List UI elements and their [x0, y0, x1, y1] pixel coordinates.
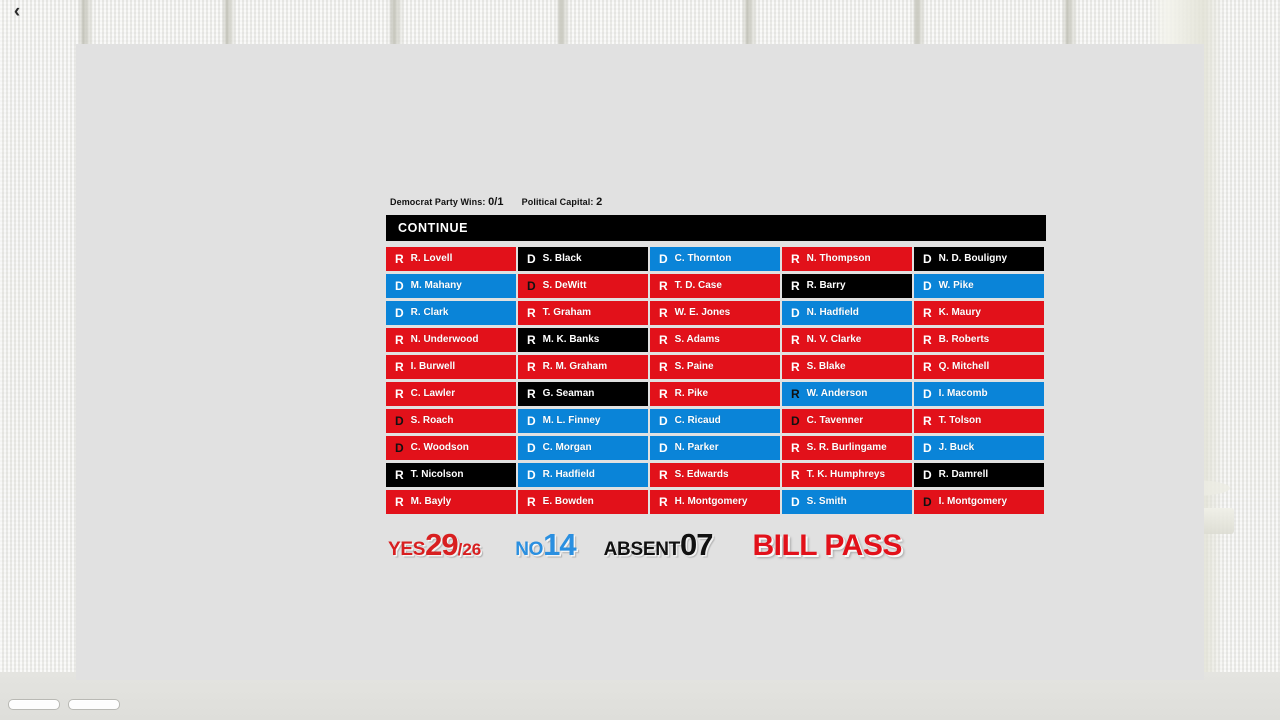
vote-card-name: I. Macomb	[939, 389, 988, 399]
vote-card-party: R	[659, 469, 668, 481]
vote-card[interactable]: RR. Pike	[650, 382, 780, 406]
vote-card-party: R	[527, 334, 536, 346]
vote-card-name: S. Edwards	[675, 470, 729, 480]
party-wins-value: 0/1	[488, 196, 504, 208]
vote-card[interactable]: DR. Hadfield	[518, 463, 648, 487]
yes-needed: /26	[458, 540, 482, 560]
vote-card[interactable]: RT. K. Humphreys	[782, 463, 912, 487]
vote-card[interactable]: RS. Edwards	[650, 463, 780, 487]
vote-card-name: T. K. Humphreys	[807, 470, 885, 480]
vote-card-name: S. Paine	[675, 362, 714, 372]
absent-value: 07	[680, 527, 712, 563]
vote-card[interactable]: RM. Bayly	[386, 490, 516, 514]
vote-card-party: R	[791, 469, 800, 481]
vote-card-name: T. D. Case	[675, 281, 722, 291]
vote-card-name: W. Anderson	[807, 389, 868, 399]
vote-card[interactable]: DR. Damrell	[914, 463, 1044, 487]
continue-button-label: CONTINUE	[398, 221, 468, 235]
vote-card-party: D	[527, 442, 536, 454]
party-wins-stat: Democrat Party Wins: 0/1	[390, 196, 504, 208]
vote-card-party: D	[659, 253, 668, 265]
vote-card-name: N. Underwood	[411, 335, 479, 345]
continue-button[interactable]: CONTINUE	[386, 215, 1046, 241]
vote-card-party: R	[791, 334, 800, 346]
vote-card-party: R	[791, 388, 800, 400]
vote-card-name: M. L. Finney	[543, 416, 601, 426]
vote-card-name: W. Pike	[939, 281, 974, 291]
vote-card-party: R	[527, 307, 536, 319]
bottom-status-bars	[8, 699, 120, 710]
vote-card-name: T. Tolson	[939, 416, 982, 426]
vote-card[interactable]: DC. Tavenner	[782, 409, 912, 433]
vote-card[interactable]: DC. Thornton	[650, 247, 780, 271]
vote-card-name: Q. Mitchell	[939, 362, 990, 372]
vote-card-name: C. Morgan	[543, 443, 592, 453]
vote-card[interactable]: DI. Montgomery	[914, 490, 1044, 514]
main-panel: Democrat Party Wins: 0/1 Political Capit…	[76, 44, 1204, 680]
vote-card[interactable]: DW. Pike	[914, 274, 1044, 298]
vote-card-party: D	[923, 253, 932, 265]
vote-card[interactable]: RR. Lovell	[386, 247, 516, 271]
yes-value: 29	[425, 527, 457, 563]
vote-card[interactable]: RH. Montgomery	[650, 490, 780, 514]
vote-card-party: R	[923, 361, 932, 373]
bill-result-status: BILL PASS	[752, 529, 901, 563]
vote-card-party: R	[527, 361, 536, 373]
vote-card[interactable]: DS. Roach	[386, 409, 516, 433]
vote-card-party: D	[923, 442, 932, 454]
vote-card[interactable]: DM. Mahany	[386, 274, 516, 298]
vote-card-party: R	[923, 334, 932, 346]
vote-card-name: N. V. Clarke	[807, 335, 862, 345]
vote-card-name: C. Tavenner	[807, 416, 864, 426]
vote-card-name: S. Smith	[807, 497, 847, 507]
vote-card-party: R	[659, 388, 668, 400]
vote-card-party: R	[659, 361, 668, 373]
no-tally: NO 14	[515, 527, 575, 563]
vote-card[interactable]: RS. R. Burlingame	[782, 436, 912, 460]
vote-card-party: D	[395, 280, 404, 292]
vote-card-party: R	[659, 496, 668, 508]
vote-card[interactable]: RN. V. Clarke	[782, 328, 912, 352]
vote-card[interactable]: DS. DeWitt	[518, 274, 648, 298]
vote-card-party: D	[527, 280, 536, 292]
political-capital-value: 2	[596, 196, 602, 208]
vote-card[interactable]: DS. Smith	[782, 490, 912, 514]
vote-card-party: R	[527, 496, 536, 508]
vote-card-party: D	[923, 496, 932, 508]
no-value: 14	[543, 527, 575, 563]
political-capital-label: Political Capital:	[522, 197, 594, 207]
vote-card-party: R	[395, 334, 404, 346]
vote-card[interactable]: RB. Roberts	[914, 328, 1044, 352]
vote-card-party: D	[791, 307, 800, 319]
vote-card-name: C. Thornton	[675, 254, 732, 264]
party-wins-label: Democrat Party Wins:	[390, 197, 485, 207]
vote-card-name: N. Parker	[675, 443, 719, 453]
vote-card-name: T. Graham	[543, 308, 591, 318]
status-bar-left[interactable]	[8, 699, 60, 710]
vote-card-party: R	[395, 469, 404, 481]
vote-card-name: N. D. Bouligny	[939, 254, 1007, 264]
vote-card-name: C. Ricaud	[675, 416, 721, 426]
vote-card-name: I. Montgomery	[939, 497, 1007, 507]
vote-card-name: R. Hadfield	[543, 470, 595, 480]
vote-card-name: S. Adams	[675, 335, 720, 345]
vote-card[interactable]: DC. Ricaud	[650, 409, 780, 433]
vote-card-party: D	[527, 415, 536, 427]
vote-card-party: D	[923, 469, 932, 481]
vote-card-party: D	[395, 307, 404, 319]
vote-card-party: R	[395, 253, 404, 265]
vote-card[interactable]: RG. Seaman	[518, 382, 648, 406]
vote-card[interactable]: RS. Blake	[782, 355, 912, 379]
vote-card-name: S. Blake	[807, 362, 846, 372]
vote-card[interactable]: DJ. Buck	[914, 436, 1044, 460]
vote-card-party: D	[659, 442, 668, 454]
vote-card[interactable]: RR. M. Graham	[518, 355, 648, 379]
vote-card-name: R. Lovell	[411, 254, 453, 264]
political-capital-stat: Political Capital: 2	[522, 196, 603, 208]
vote-card-party: R	[791, 442, 800, 454]
vote-card-name: R. Clark	[411, 308, 449, 318]
vote-card[interactable]: RW. E. Jones	[650, 301, 780, 325]
vote-card-name: B. Roberts	[939, 335, 990, 345]
vote-card-name: C. Woodson	[411, 443, 469, 453]
vote-card-party: D	[791, 415, 800, 427]
vote-card[interactable]: RM. K. Banks	[518, 328, 648, 352]
vote-card-name: W. E. Jones	[675, 308, 731, 318]
vote-card-party: R	[659, 280, 668, 292]
vote-card[interactable]: RN. Underwood	[386, 328, 516, 352]
vote-card-name: H. Montgomery	[675, 497, 748, 507]
status-bar-right[interactable]	[68, 699, 120, 710]
vote-card-party: D	[791, 496, 800, 508]
vote-card-party: D	[395, 415, 404, 427]
vote-card-name: M. K. Banks	[543, 335, 600, 345]
vote-card[interactable]: RC. Lawler	[386, 382, 516, 406]
vote-card-party: D	[395, 442, 404, 454]
vote-card-party: R	[395, 361, 404, 373]
vote-card-party: R	[791, 280, 800, 292]
absent-tally: ABSENT 07	[604, 527, 713, 563]
vote-card-name: S. DeWitt	[543, 281, 587, 291]
yes-label: YES	[388, 539, 425, 561]
vote-card-party: D	[527, 469, 536, 481]
vote-card[interactable]: RT. Nicolson	[386, 463, 516, 487]
vote-card-party: R	[923, 415, 932, 427]
vote-card[interactable]: DN. Parker	[650, 436, 780, 460]
vote-card[interactable]: RT. Graham	[518, 301, 648, 325]
vote-card[interactable]: RT. D. Case	[650, 274, 780, 298]
vote-card[interactable]: DN. Hadfield	[782, 301, 912, 325]
vote-card-name: R. Pike	[675, 389, 708, 399]
vote-card-party: R	[791, 253, 800, 265]
vote-card-name: I. Burwell	[411, 362, 455, 372]
vote-card[interactable]: DC. Morgan	[518, 436, 648, 460]
vote-card-party: D	[659, 415, 668, 427]
vote-card-party: R	[395, 388, 404, 400]
status-line: Democrat Party Wins: 0/1 Political Capit…	[390, 196, 1046, 208]
vote-card-name: M. Mahany	[411, 281, 462, 291]
vote-card-party: R	[923, 307, 932, 319]
vote-card-name: S. Roach	[411, 416, 454, 426]
vote-card-name: R. Barry	[807, 281, 846, 291]
vote-card[interactable]: RN. Thompson	[782, 247, 912, 271]
vote-card-party: R	[395, 496, 404, 508]
vote-card-name: R. Damrell	[939, 470, 988, 480]
vote-card[interactable]: RW. Anderson	[782, 382, 912, 406]
vote-card-party: R	[659, 334, 668, 346]
yes-tally: YES 29 /26	[388, 527, 481, 563]
vote-card-name: N. Hadfield	[807, 308, 859, 318]
no-label: NO	[515, 539, 543, 561]
vote-card-name: E. Bowden	[543, 497, 594, 507]
vote-card-party: R	[659, 307, 668, 319]
vote-card-name: N. Thompson	[807, 254, 871, 264]
vote-card-name: M. Bayly	[411, 497, 452, 507]
vote-card-party: D	[923, 280, 932, 292]
vote-card-party: R	[791, 361, 800, 373]
vote-card[interactable]: DC. Woodson	[386, 436, 516, 460]
vote-tally: YES 29 /26 NO 14 ABSENT 07 BILL PASS	[386, 527, 1046, 563]
vote-card[interactable]: RE. Bowden	[518, 490, 648, 514]
vote-card-name: C. Lawler	[411, 389, 455, 399]
back-arrow-icon[interactable]: ‹	[6, 2, 28, 24]
vote-board: Democrat Party Wins: 0/1 Political Capit…	[386, 196, 1046, 563]
vote-card-name: R. M. Graham	[543, 362, 607, 372]
vote-card-name: G. Seaman	[543, 389, 595, 399]
vote-card-name: S. Black	[543, 254, 582, 264]
vote-card[interactable]: RK. Maury	[914, 301, 1044, 325]
vote-card[interactable]: DI. Macomb	[914, 382, 1044, 406]
vote-card-grid: RR. LovellDS. BlackDC. ThorntonRN. Thomp…	[386, 247, 1046, 514]
vote-card-name: S. R. Burlingame	[807, 443, 887, 453]
vote-card[interactable]: DN. D. Bouligny	[914, 247, 1044, 271]
vote-card[interactable]: DM. L. Finney	[518, 409, 648, 433]
vote-card[interactable]: RS. Adams	[650, 328, 780, 352]
vote-card-name: J. Buck	[939, 443, 975, 453]
vote-card[interactable]: RQ. Mitchell	[914, 355, 1044, 379]
absent-label: ABSENT	[604, 539, 680, 561]
vote-card[interactable]: RT. Tolson	[914, 409, 1044, 433]
vote-card-party: D	[923, 388, 932, 400]
vote-card-name: T. Nicolson	[411, 470, 464, 480]
vote-card[interactable]: RI. Burwell	[386, 355, 516, 379]
vote-card[interactable]: RS. Paine	[650, 355, 780, 379]
vote-card-party: R	[527, 388, 536, 400]
vote-card-party: D	[527, 253, 536, 265]
vote-card[interactable]: RR. Barry	[782, 274, 912, 298]
vote-card[interactable]: DR. Clark	[386, 301, 516, 325]
vote-card-name: K. Maury	[939, 308, 981, 318]
vote-card[interactable]: DS. Black	[518, 247, 648, 271]
